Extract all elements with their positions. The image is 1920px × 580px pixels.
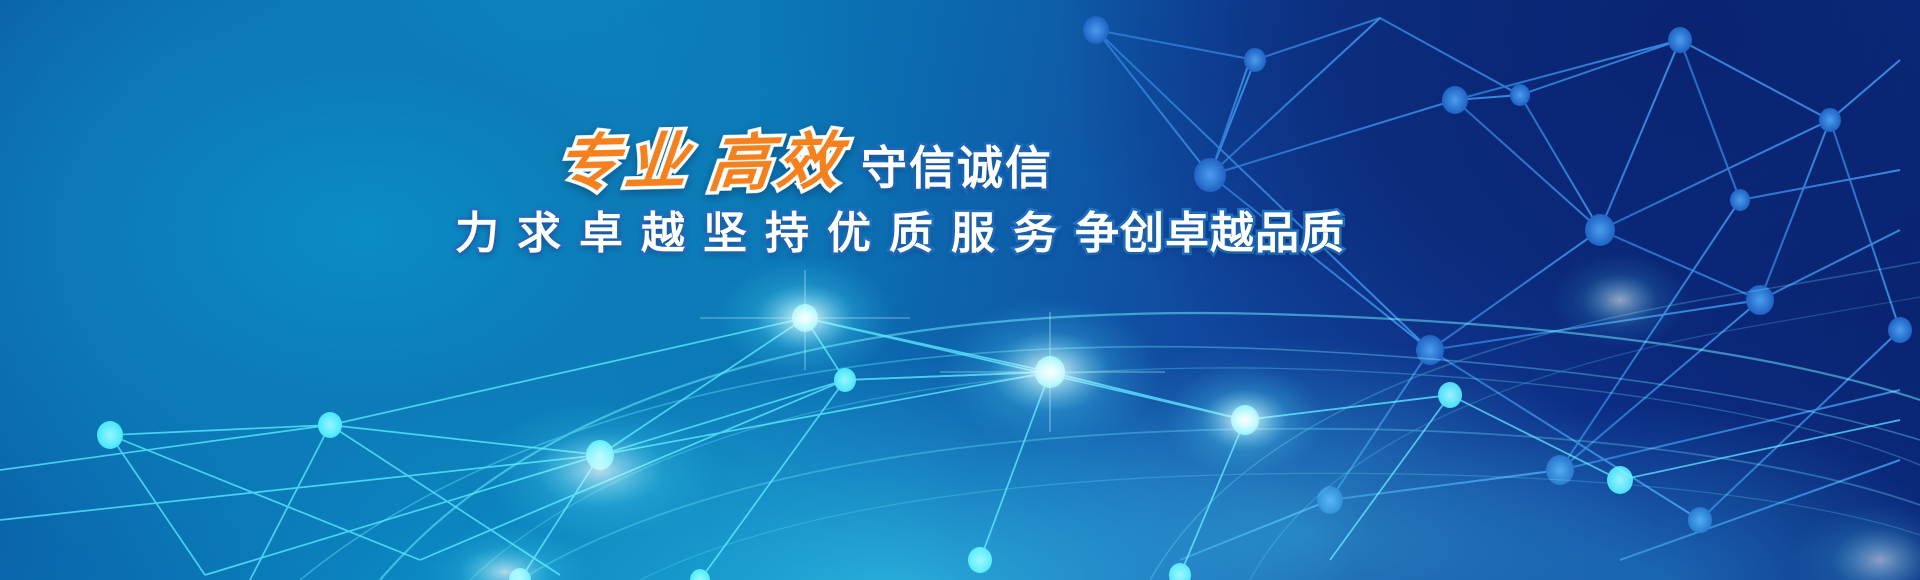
headline-accent-1: 专业 — [554, 130, 696, 195]
headline-accent-2: 高效 — [706, 130, 848, 195]
bottom-glow-overlay — [0, 0, 1920, 580]
banner-copy: 专业 高效 守信诚信 力求卓越坚持优质服务争创卓越品质 — [455, 132, 1155, 258]
subline: 力求卓越坚持优质服务争创卓越品质 — [455, 210, 1155, 258]
headline-plain: 守信诚信 — [861, 145, 1053, 191]
subline-part-2: 争创卓越品质 — [1075, 208, 1345, 259]
subline-part-1: 力求卓越坚持优质服务 — [455, 208, 1075, 259]
hero-banner: 专业 高效 守信诚信 力求卓越坚持优质服务争创卓越品质 — [0, 0, 1920, 580]
headline: 专业 高效 守信诚信 — [455, 132, 1155, 194]
